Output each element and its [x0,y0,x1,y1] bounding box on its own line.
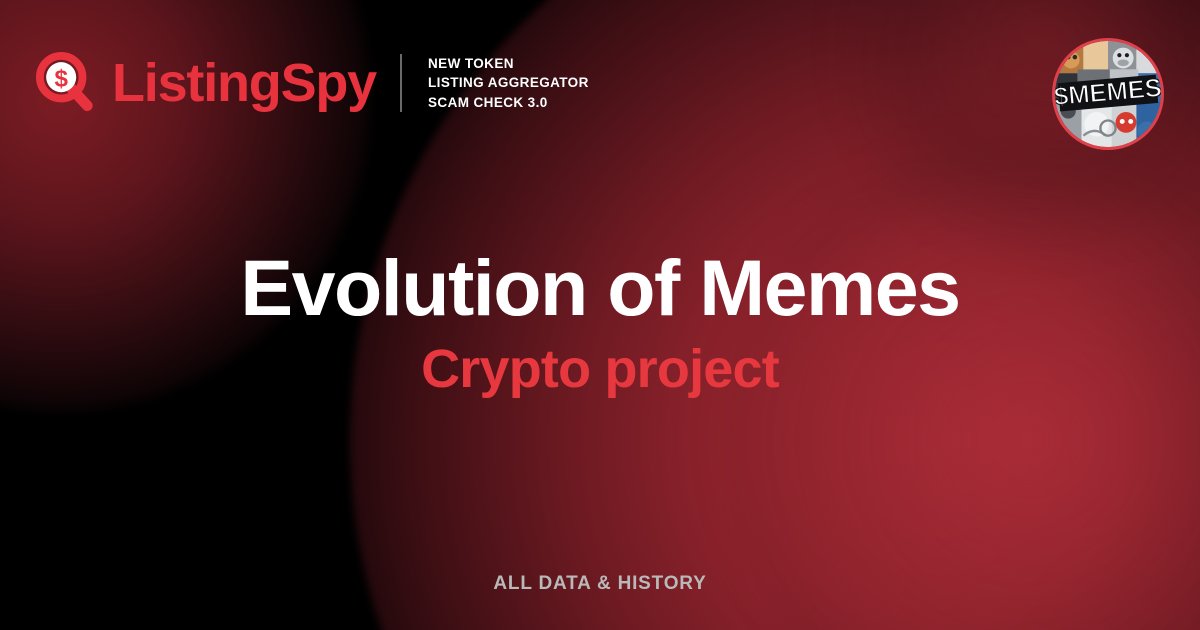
promo-banner: $ ListingSpy NEW TOKEN LISTING AGGREGATO… [0,0,1200,630]
memes-token-artwork: $MEMES [1055,41,1161,147]
tagline-line-1: NEW TOKEN [428,54,589,73]
page-subtitle: Crypto project [0,341,1200,398]
footer-caption: ALL DATA & HISTORY [0,573,1200,595]
tagline-line-3: SCAM CHECK 3.0 [428,93,589,112]
main-copy: Evolution of Memes Crypto project [0,248,1200,397]
memes-token-logo[interactable]: $MEMES [1052,38,1164,150]
tagline-line-2: LISTING AGGREGATOR [428,73,589,92]
brand-tagline: NEW TOKEN LISTING AGGREGATOR SCAM CHECK … [428,54,589,111]
brand-header: $ ListingSpy NEW TOKEN LISTING AGGREGATO… [36,52,589,114]
page-title: Evolution of Memes [0,248,1200,329]
brand-wordmark: ListingSpy [112,56,376,110]
header-divider [400,54,402,112]
magnifier-dollar-icon: $ [36,52,98,114]
svg-text:$: $ [54,65,68,92]
